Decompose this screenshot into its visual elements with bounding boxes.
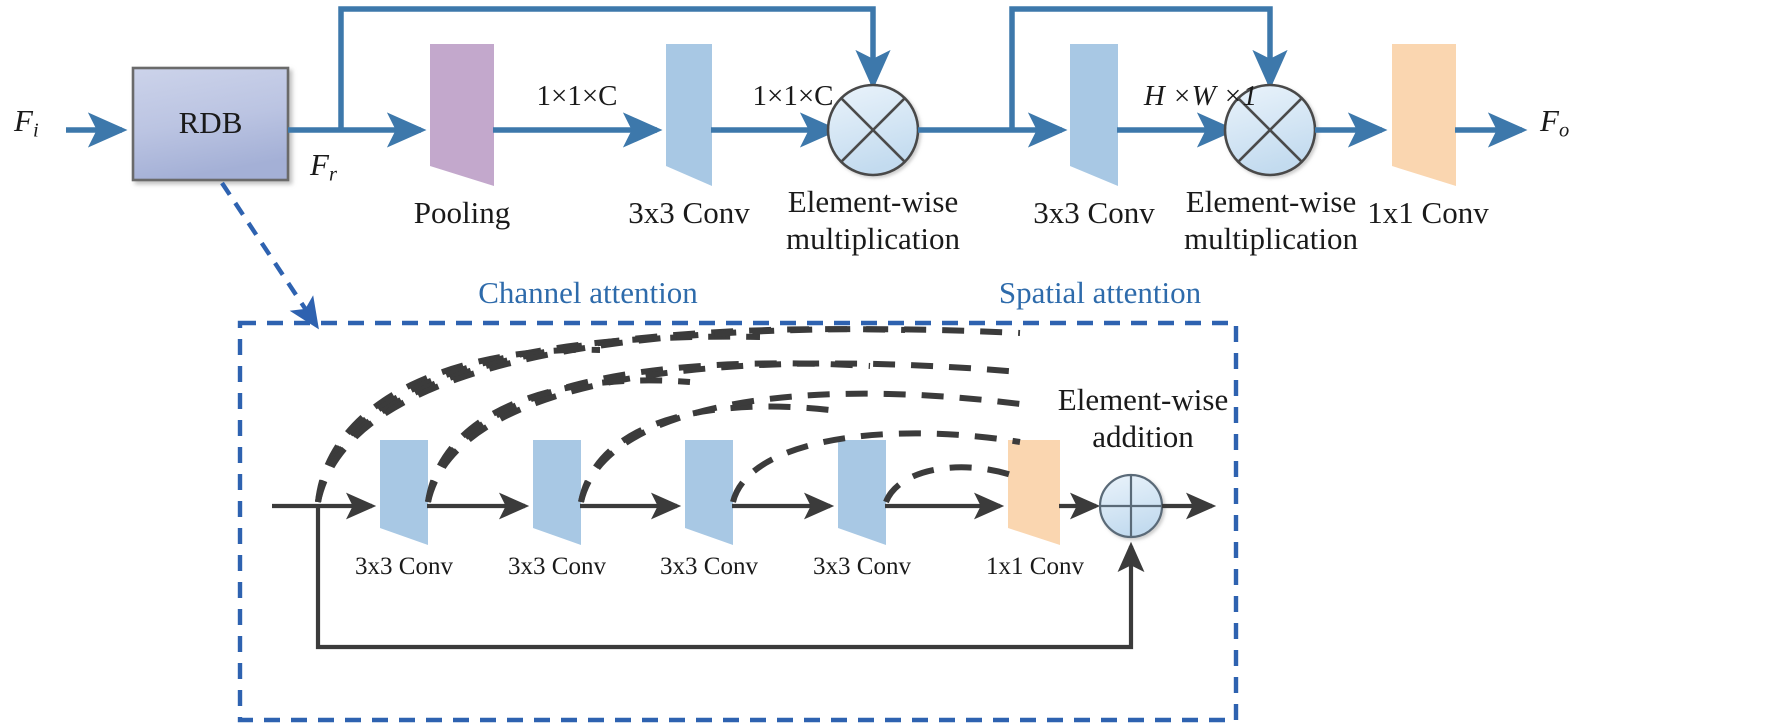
tensor-HxWx1-label: H ×W ×1 <box>1118 80 1283 112</box>
mul-channel-label: Element-wise multiplication <box>748 184 998 257</box>
rdb-conv-4-label: 3x3 Conv <box>782 553 942 581</box>
input-feature-subscript: i <box>33 120 39 142</box>
rdb-conv-1-block <box>380 440 428 545</box>
rdb-conv-1x1-block <box>1008 440 1060 545</box>
output-feature-symbol: F <box>1540 103 1559 138</box>
rdb-conv-1x1-label: 1x1 Conv <box>955 553 1115 581</box>
conv3x3-channel-block <box>666 44 712 186</box>
pooling-label: Pooling <box>382 196 542 231</box>
mul-channel-label-line2: multiplication <box>748 221 998 258</box>
tensor-1x1xC-a-label: 1×1×C <box>497 80 657 112</box>
input-feature-symbol: F <box>14 103 33 138</box>
rdb-conv-4-block <box>838 440 886 545</box>
mul-channel-label-line1: Element-wise <box>748 184 998 221</box>
element-wise-addition-label-line2: addition <box>1018 419 1268 456</box>
element-wise-addition-label: Element-wise addition <box>1018 382 1268 455</box>
callout-arrow-rdb-detail <box>222 183 316 325</box>
figure-canvas: Fi RDB Fr Fo 1×1×C 1×1×C H ×W ×1 Pooling… <box>0 0 1775 724</box>
output-feature-label: Fo <box>1540 104 1569 143</box>
tensor-1x1xC-b-label: 1×1×C <box>713 80 873 112</box>
rdb-conv-3-block <box>685 440 733 545</box>
rdb-output-feature-symbol: F <box>310 147 329 182</box>
spatial-attention-label: Spatial attention <box>950 276 1250 311</box>
rdb-conv-2-label: 3x3 Conv <box>477 553 637 581</box>
rdb-block-label: RDB <box>133 106 288 141</box>
conv3x3-channel-label: 3x3 Conv <box>609 196 769 231</box>
pooling-block <box>430 44 494 186</box>
rdb-output-feature-subscript: r <box>329 164 337 186</box>
conv1x1-out-block <box>1392 44 1456 186</box>
rdb-conv-2-block <box>533 440 581 545</box>
conv3x3-spatial-block <box>1070 44 1118 186</box>
rdb-conv-1-label: 3x3 Conv <box>324 553 484 581</box>
element-wise-addition-label-line1: Element-wise <box>1018 382 1268 419</box>
rdb-conv-3-label: 3x3 Conv <box>629 553 789 581</box>
channel-attention-label: Channel attention <box>438 276 738 311</box>
output-feature-subscript: o <box>1559 120 1569 142</box>
element-wise-addition-circle <box>1100 475 1162 537</box>
rdb-output-feature-label: Fr <box>310 148 337 187</box>
conv1x1-out-label: 1x1 Conv <box>1348 196 1508 231</box>
input-feature-label: Fi <box>14 104 39 143</box>
